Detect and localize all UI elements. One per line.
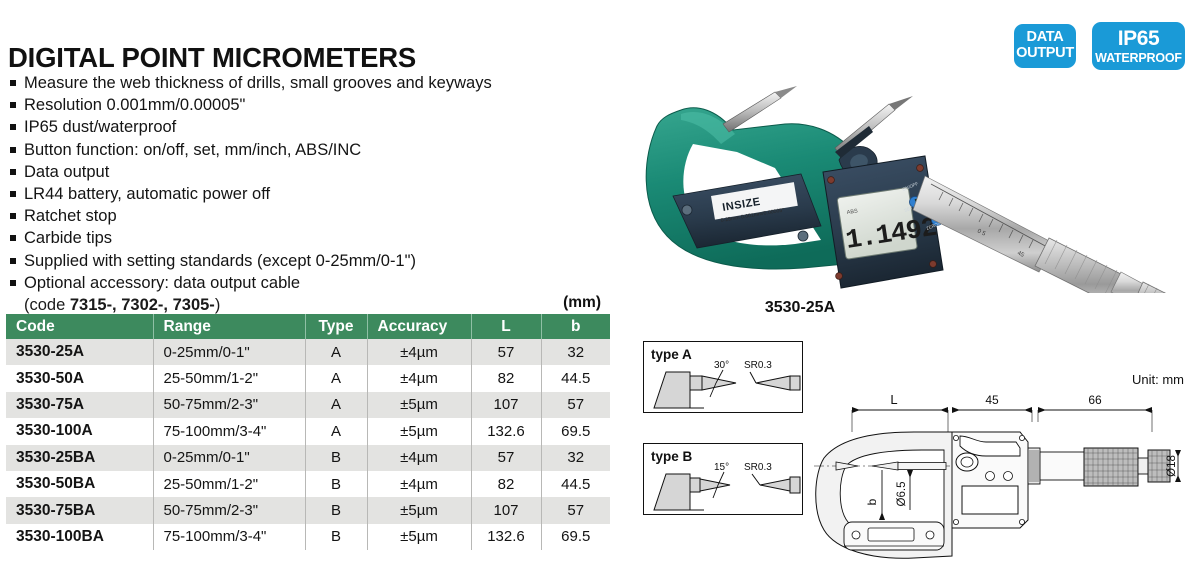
feature-text: Button function: on/off, set, mm/inch, A… — [24, 139, 620, 161]
cell-type: B — [305, 497, 367, 523]
dimension-drawing-svg: L 45 66 — [810, 370, 1190, 570]
feature-text: Data output — [24, 161, 620, 183]
type-a-radius-label: SR0.3 — [744, 360, 772, 371]
cell-range: 25-50mm/1-2" — [153, 365, 305, 391]
col-header-l: L — [471, 314, 541, 339]
cell-code: 3530-100BA — [6, 524, 153, 550]
cell-b: 44.5 — [541, 365, 610, 391]
dim-L-label: L — [890, 392, 897, 407]
type-a-label: type A — [651, 347, 692, 362]
table-header-row: Code Range Type Accuracy L b — [6, 314, 610, 339]
product-caption: 3530-25A — [625, 299, 975, 317]
cell-b: 32 — [541, 445, 610, 471]
cell-range: 50-75mm/2-3" — [153, 497, 305, 523]
cell-code: 3530-75A — [6, 392, 153, 418]
list-item: Data output — [10, 161, 620, 183]
dim-dia18-label: Ø18 — [1166, 455, 1178, 477]
right-content-column: DATA OUTPUT IP65 WATERPROOF — [625, 0, 1190, 572]
feature-text: Optional accessory: data output cable — [24, 272, 620, 294]
table-row: 3530-50A 25-50mm/1-2" A ±4µm 82 44.5 — [6, 365, 610, 391]
square-bullet-icon — [10, 191, 16, 197]
type-b-angle-label: 15° — [714, 462, 729, 473]
cell-code: 3530-50A — [6, 365, 153, 391]
type-b-diagram: type B 15° SR0.3 — [643, 443, 803, 515]
cell-type: A — [305, 418, 367, 444]
square-bullet-icon — [10, 258, 16, 264]
ratchet-stop — [1111, 272, 1171, 293]
cell-type: A — [305, 339, 367, 365]
table-row: 3530-100BA 75-100mm/3-4" B ±5µm 132.6 69… — [6, 524, 610, 550]
square-bullet-icon — [10, 213, 16, 219]
col-header-range: Range — [153, 314, 305, 339]
col-header-type: Type — [305, 314, 367, 339]
cell-accuracy: ±4µm — [367, 471, 471, 497]
cell-type: A — [305, 392, 367, 418]
cell-range: 25-50mm/1-2" — [153, 471, 305, 497]
cell-accuracy: ±5µm — [367, 524, 471, 550]
col-header-b: b — [541, 314, 610, 339]
cell-range: 75-100mm/3-4" — [153, 418, 305, 444]
square-bullet-icon — [10, 80, 16, 86]
feature-text: Ratchet stop — [24, 205, 620, 227]
cell-l: 57 — [471, 445, 541, 471]
list-item: Optional accessory: data output cable — [10, 272, 620, 294]
cell-accuracy: ±5µm — [367, 497, 471, 523]
list-item: Ratchet stop — [10, 205, 620, 227]
cell-range: 75-100mm/3-4" — [153, 524, 305, 550]
square-bullet-icon — [10, 169, 16, 175]
cell-b: 69.5 — [541, 418, 610, 444]
digital-display-head: ABS 1.1492 ON/OFF SET mm/inch ZERO/ABS — [823, 156, 948, 288]
cell-l: 107 — [471, 392, 541, 418]
list-item: Button function: on/off, set, mm/inch, A… — [10, 139, 620, 161]
cell-range: 50-75mm/2-3" — [153, 392, 305, 418]
type-diagram-group: type A 30° SR0.3 type B — [643, 341, 803, 545]
unit-label: Unit: mm — [1132, 372, 1184, 387]
cell-accuracy: ±5µm — [367, 418, 471, 444]
accessory-code-line: (code 7315-, 7302-, 7305-) — [24, 294, 620, 316]
table-row: 3530-25BA 0-25mm/0-1" B ±4µm 57 32 — [6, 445, 610, 471]
square-bullet-icon — [10, 147, 16, 153]
dim-dia65-label: Ø6.5 — [896, 482, 908, 507]
left-content-column: DIGITAL POINT MICROMETERS Measure the we… — [0, 0, 625, 572]
dim-b-label: b — [865, 498, 879, 505]
table-row: 3530-25A 0-25mm/0-1" A ±4µm 57 32 — [6, 339, 610, 365]
cell-l: 82 — [471, 365, 541, 391]
cell-accuracy: ±4µm — [367, 339, 471, 365]
table-unit-note: (mm) — [563, 294, 601, 312]
dimension-drawing: Unit: mm L 45 — [810, 370, 1190, 570]
type-a-angle-label: 30° — [714, 360, 729, 371]
col-header-accuracy: Accuracy — [367, 314, 471, 339]
cell-type: A — [305, 365, 367, 391]
table-row: 3530-75BA 50-75mm/2-3" B ±5µm 107 57 — [6, 497, 610, 523]
micrometer-illustration: INSIZE 0-25mm 0.001mm/0.00005" — [625, 48, 1190, 293]
feature-text: Supplied with setting standards (except … — [24, 250, 620, 272]
list-item: Measure the web thickness of drills, sma… — [10, 72, 620, 94]
feature-text: IP65 dust/waterproof — [24, 116, 620, 138]
product-photo: INSIZE 0-25mm 0.001mm/0.00005" — [625, 48, 1190, 293]
cell-accuracy: ±4µm — [367, 365, 471, 391]
cell-b: 57 — [541, 392, 610, 418]
cell-l: 132.6 — [471, 418, 541, 444]
feature-text: Resolution 0.001mm/0.00005" — [24, 94, 620, 116]
specification-table: Code Range Type Accuracy L b 3530-25A 0-… — [6, 314, 610, 550]
accessory-codes: 7315-, 7302-, 7305- — [70, 296, 215, 314]
feature-text: LR44 battery, automatic power off — [24, 183, 620, 205]
cell-code: 3530-50BA — [6, 471, 153, 497]
table-row: 3530-75A 50-75mm/2-3" A ±5µm 107 57 — [6, 392, 610, 418]
cell-type: B — [305, 524, 367, 550]
dim-66-label: 66 — [1088, 393, 1102, 407]
list-item: Supplied with setting standards (except … — [10, 250, 620, 272]
cell-code: 3530-25A — [6, 339, 153, 365]
badge-line-1: DATA — [1027, 30, 1064, 46]
cell-range: 0-25mm/0-1" — [153, 445, 305, 471]
list-item: LR44 battery, automatic power off — [10, 183, 620, 205]
cell-range: 0-25mm/0-1" — [153, 339, 305, 365]
feature-text: Carbide tips — [24, 227, 620, 249]
cell-code: 3530-75BA — [6, 497, 153, 523]
list-item: Resolution 0.001mm/0.00005" — [10, 94, 620, 116]
col-header-code: Code — [6, 314, 153, 339]
cell-type: B — [305, 445, 367, 471]
square-bullet-icon — [10, 124, 16, 130]
list-item: Carbide tips — [10, 227, 620, 249]
list-item: IP65 dust/waterproof — [10, 116, 620, 138]
accessory-prefix: (code — [24, 296, 70, 314]
cell-b: 44.5 — [541, 471, 610, 497]
type-b-label: type B — [651, 449, 692, 464]
cell-b: 69.5 — [541, 524, 610, 550]
square-bullet-icon — [10, 280, 16, 286]
type-a-diagram: type A 30° SR0.3 — [643, 341, 803, 413]
cell-accuracy: ±4µm — [367, 445, 471, 471]
table-row: 3530-100A 75-100mm/3-4" A ±5µm 132.6 69.… — [6, 418, 610, 444]
dim-45-label: 45 — [985, 393, 999, 407]
cell-b: 57 — [541, 497, 610, 523]
table-row: 3530-50BA 25-50mm/1-2" B ±4µm 82 44.5 — [6, 471, 610, 497]
cell-l: 107 — [471, 497, 541, 523]
cell-l: 82 — [471, 471, 541, 497]
feature-text: Measure the web thickness of drills, sma… — [24, 72, 620, 94]
square-bullet-icon — [10, 235, 16, 241]
page-title: DIGITAL POINT MICROMETERS — [8, 42, 416, 74]
thimble — [1035, 238, 1125, 293]
cell-b: 32 — [541, 339, 610, 365]
accessory-suffix: ) — [215, 296, 221, 314]
type-b-radius-label: SR0.3 — [744, 462, 772, 473]
cell-type: B — [305, 471, 367, 497]
square-bullet-icon — [10, 102, 16, 108]
cell-l: 57 — [471, 339, 541, 365]
table-body: 3530-25A 0-25mm/0-1" A ±4µm 57 32 3530-5… — [6, 339, 610, 550]
feature-list: Measure the web thickness of drills, sma… — [10, 72, 620, 316]
cell-code: 3530-100A — [6, 418, 153, 444]
cell-accuracy: ±5µm — [367, 392, 471, 418]
cell-l: 132.6 — [471, 524, 541, 550]
cell-code: 3530-25BA — [6, 445, 153, 471]
